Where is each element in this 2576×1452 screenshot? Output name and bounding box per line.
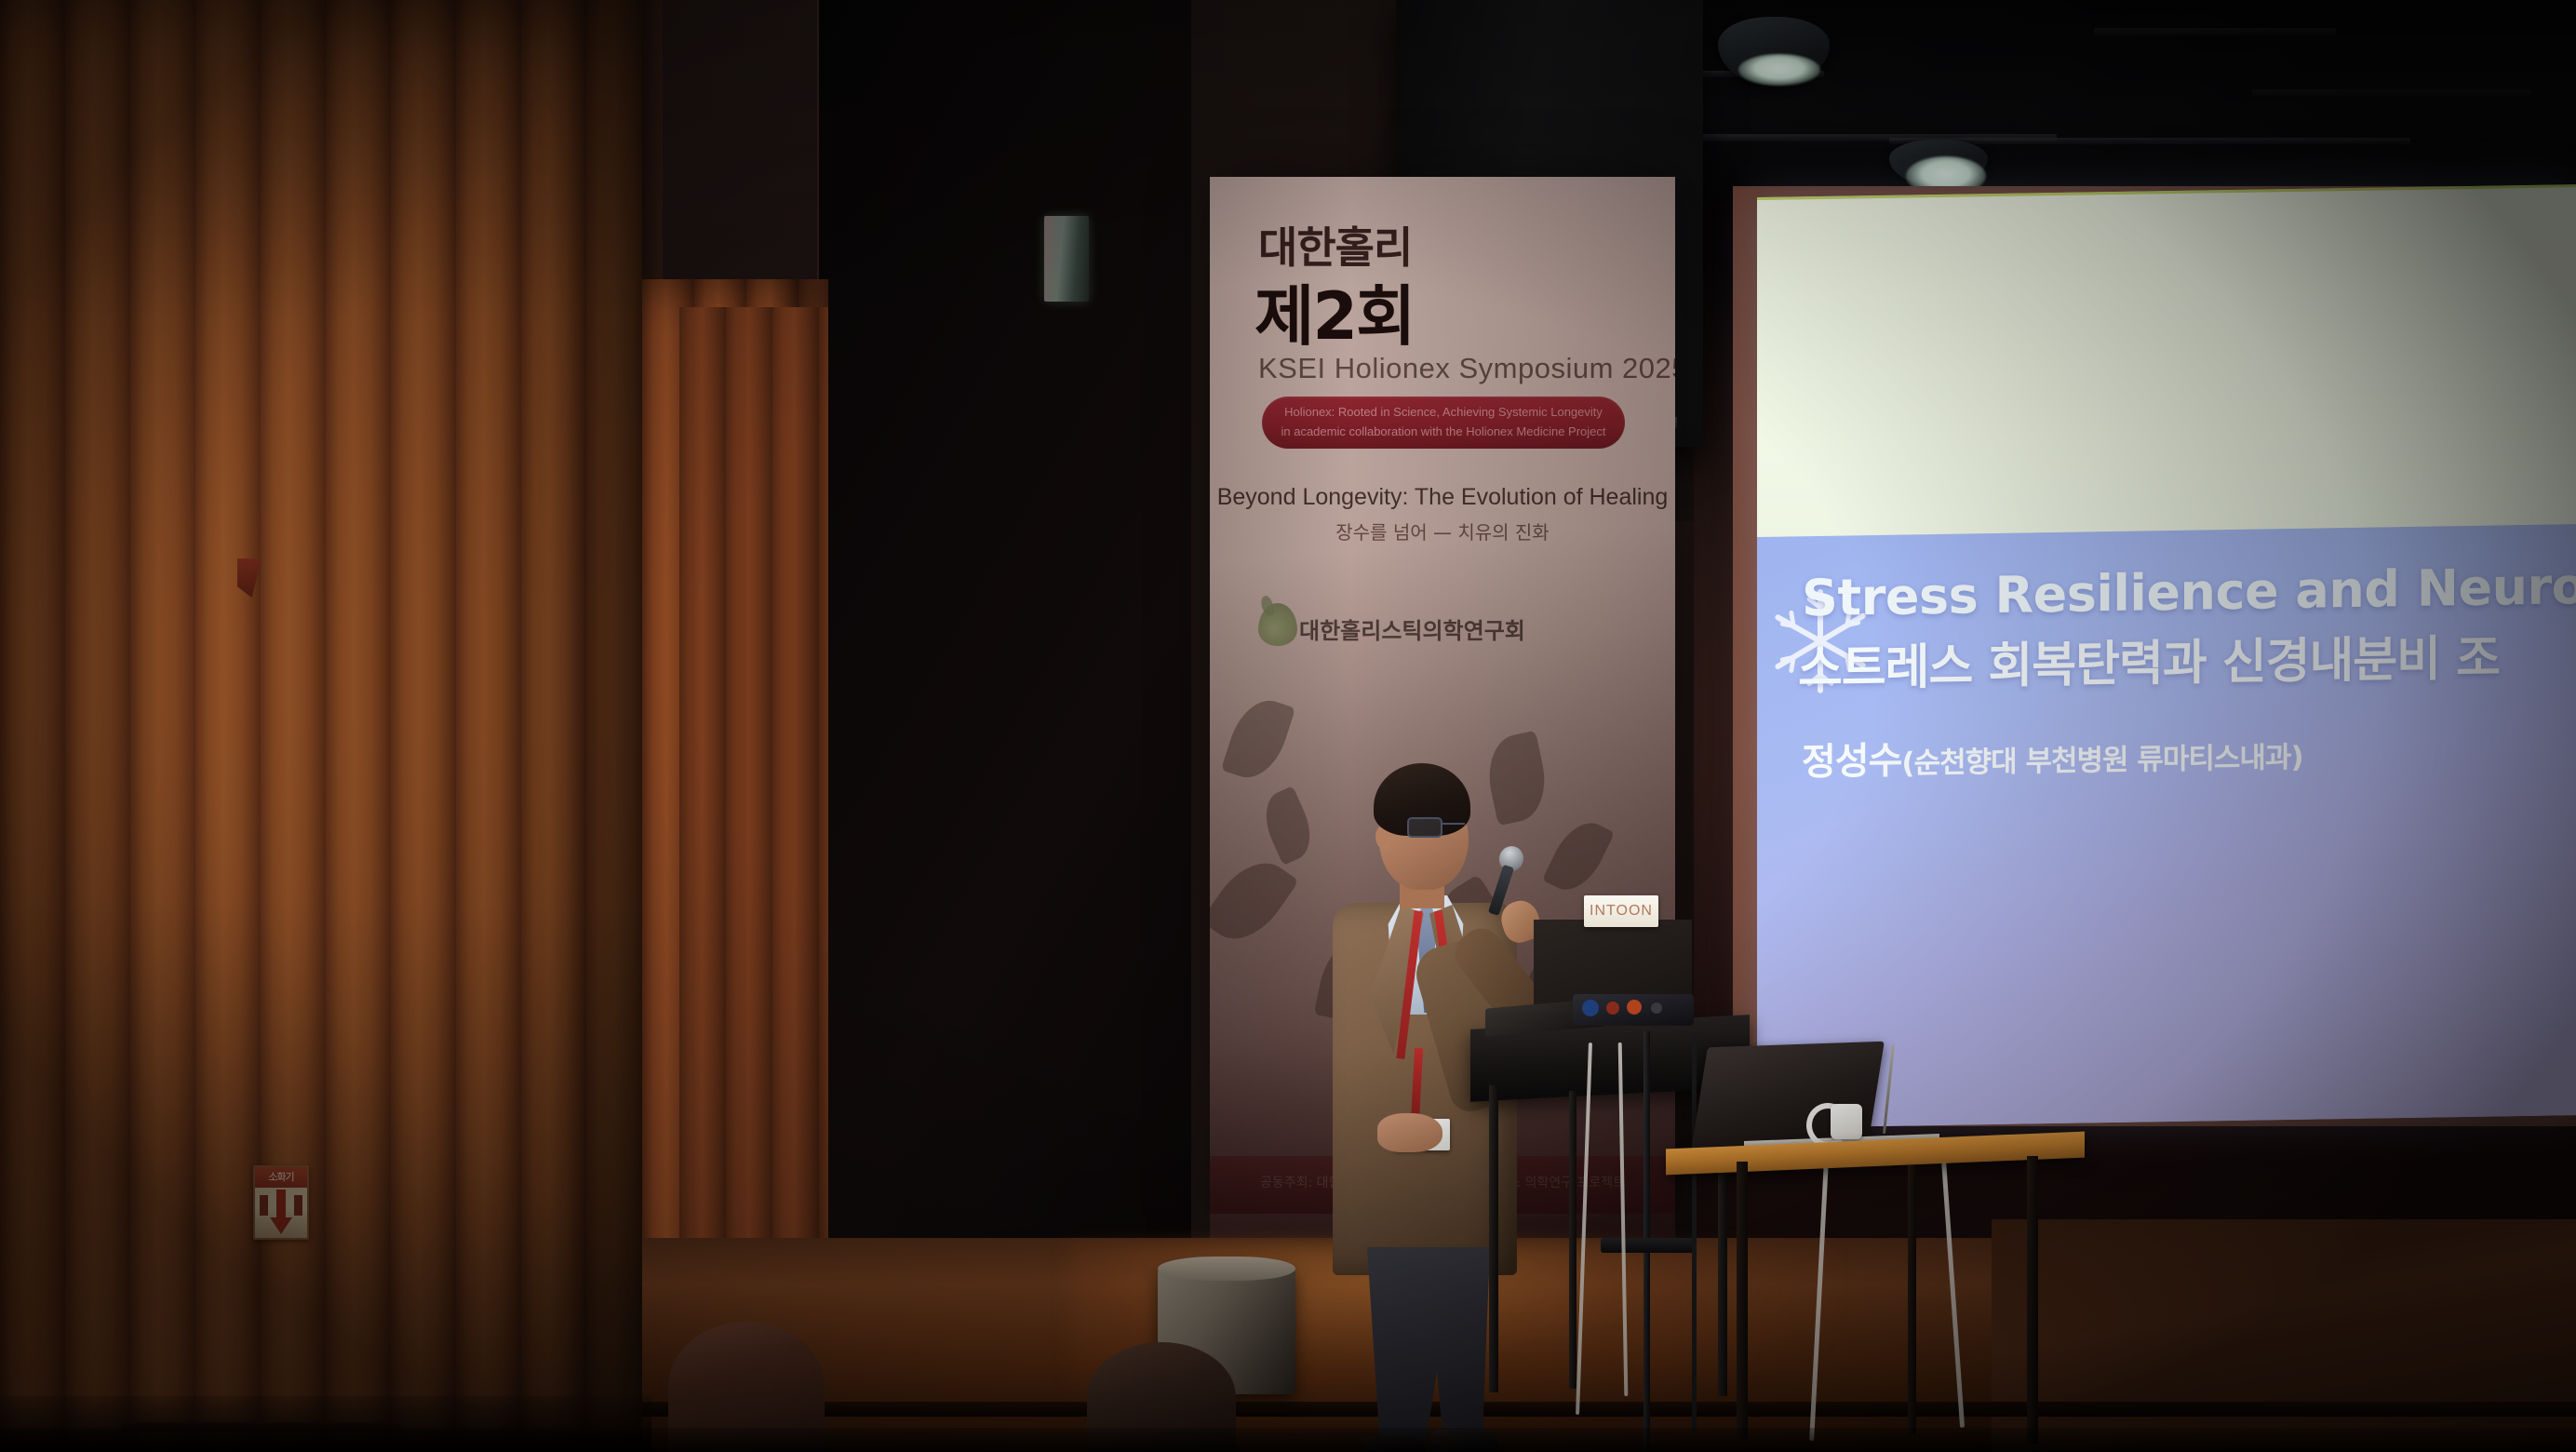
presenter	[1320, 763, 1534, 1452]
interpreter-sign: INTOON	[1584, 895, 1658, 927]
stage-light-icon	[1738, 54, 1820, 86]
down-arrow-head-icon	[270, 1217, 292, 1234]
curtain-shading	[0, 0, 642, 1452]
presenter-legs	[1359, 1247, 1498, 1452]
banner-subtitle-pill: Holionex: Rooted in Science, Achieving S…	[1262, 397, 1625, 449]
presenter-hand-on-lectern	[1377, 1113, 1442, 1152]
interpreter-sign-text: INTOON	[1590, 903, 1653, 920]
banner-tagline-ko: 장수를 넘어 — 치유의 진화	[1210, 518, 1675, 544]
banner-organization: 대한홀리스틱의학연구회	[1299, 612, 1616, 645]
down-arrow-icon	[276, 1190, 286, 1221]
av-gear-cluster	[1573, 994, 1694, 1026]
exit-sign-icon	[1044, 216, 1089, 302]
slide-speaker-name: 정성수	[1802, 740, 1901, 785]
fire-extinguisher-label: 소화기	[255, 1169, 307, 1184]
stool-seat	[1158, 1257, 1295, 1281]
stage-front-edge	[642, 1402, 2576, 1417]
banner-line-2: 제2회	[1254, 264, 1655, 358]
leaf-logo-icon	[1258, 603, 1297, 646]
bottom-shadow-band	[0, 1428, 2576, 1452]
banner-line-3: KSEI Holionex Symposium 2025	[1258, 352, 1658, 385]
fire-extinguisher-sign: 소화기	[253, 1165, 309, 1240]
banner-tagline-en: Beyond Longevity: The Evolution of Heali…	[1210, 484, 1675, 511]
eyeglasses-icon	[1407, 817, 1472, 836]
slide-title-korean: 스트레스 회복탄력과 신경내분비 조	[1798, 616, 2576, 699]
banner-pill-line-1: Holionex: Rooted in Science, Achieving S…	[1262, 405, 1625, 419]
projection-screen: Stress Resilience and Neuroe 스트레스 회복탄력과 …	[1757, 184, 2576, 1128]
banner-pill-line-2: in academic collaboration with the Holio…	[1262, 424, 1625, 438]
stage-photograph: 소화기 대한홀리 제2회 KSEI Holionex Symposium 202…	[0, 0, 2576, 1452]
slide-title-english: Stress Resilience and Neuroe	[1802, 557, 2576, 628]
slide-speaker-affiliation: (순천향대 부천병원 류마티스내과)	[1901, 741, 2302, 781]
slide-upper-band	[1757, 184, 2576, 540]
wall-recess	[819, 0, 1191, 1396]
stage-floor-right	[1992, 1219, 2576, 1452]
mic-stand-base	[1601, 1238, 1694, 1253]
power-adapter-icon	[1831, 1104, 1862, 1139]
